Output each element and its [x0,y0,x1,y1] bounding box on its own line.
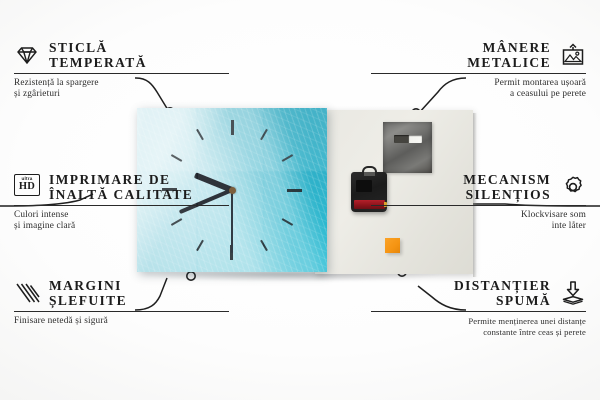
feature-edges: MARGINI ȘLEFUITE Finisare netedă și sigu… [14,278,229,327]
second-hand [231,190,233,253]
feature-handles-title: MÂNERE METALICE [467,40,551,70]
feature-spacer: DISTANȚIER SPUMĂ Permite menținerea unei… [371,278,586,337]
feature-glass-title: STICLĂ TEMPERATĂ [49,40,147,70]
foam-spacer-pad [385,238,400,253]
feature-edges-header: MARGINI ȘLEFUITE [14,278,229,308]
feature-glass-description: Rezistență la spargere și zgârieturi [14,78,229,101]
feature-glass-header: STICLĂ TEMPERATĂ [14,40,229,70]
clock-hands-hub [229,187,236,194]
feature-print-rule [14,205,229,206]
feature-mechanism: MECANISM SILENȚIOS Klockvisare som inte … [371,172,586,233]
feature-print-description: Culori intense și imagine clară [14,210,229,233]
feature-edges-title: MARGINI ȘLEFUITE [49,278,127,308]
feature-spacer-title: DISTANȚIER SPUMĂ [454,278,551,308]
feature-glass-rule [14,73,229,74]
feature-spacer-description: Permite menținerea unei distanțe constan… [371,316,586,337]
infographic-canvas: STICLĂ TEMPERATĂ Rezistență la spargere … [0,0,600,400]
feature-print: ultra HD IMPRIMARE DE ÎNALTĂ CALITATE Cu… [14,172,229,233]
hanger-slot [394,135,422,143]
feature-edges-rule [14,311,229,312]
feature-mechanism-description: Klockvisare som inte låter [371,210,586,233]
feature-spacer-header: DISTANȚIER SPUMĂ [371,278,586,308]
feature-glass: STICLĂ TEMPERATĂ Rezistență la spargere … [14,40,229,101]
feature-spacer-rule [371,311,586,312]
foam-spacer-arrow-icon [560,280,586,306]
feature-handles-rule [371,73,586,74]
feature-mechanism-title: MECANISM SILENȚIOS [463,172,551,202]
ultra-hd-badge-icon: ultra HD [14,174,40,200]
ultra-hd-big-label: HD [19,182,35,193]
feature-handles-description: Permit montarea ușoară a ceasului pe per… [371,78,586,101]
feature-print-header: ultra HD IMPRIMARE DE ÎNALTĂ CALITATE [14,172,229,202]
hanging-picture-icon [560,42,586,68]
diamond-icon [14,42,40,68]
feature-handles: MÂNERE METALICE Permit montarea ușoară a… [371,40,586,101]
polished-edge-lines-icon [14,280,40,306]
gear-icon [560,174,586,200]
feature-mechanism-rule [371,205,586,206]
metal-hanger-bracket [383,122,432,173]
feature-edges-description: Finisare netedă și sigură [14,316,229,327]
feature-mechanism-header: MECANISM SILENȚIOS [371,172,586,202]
feature-print-title: IMPRIMARE DE ÎNALTĂ CALITATE [49,172,193,202]
mechanism-housing-detail [356,180,372,192]
feature-handles-header: MÂNERE METALICE [371,40,586,70]
